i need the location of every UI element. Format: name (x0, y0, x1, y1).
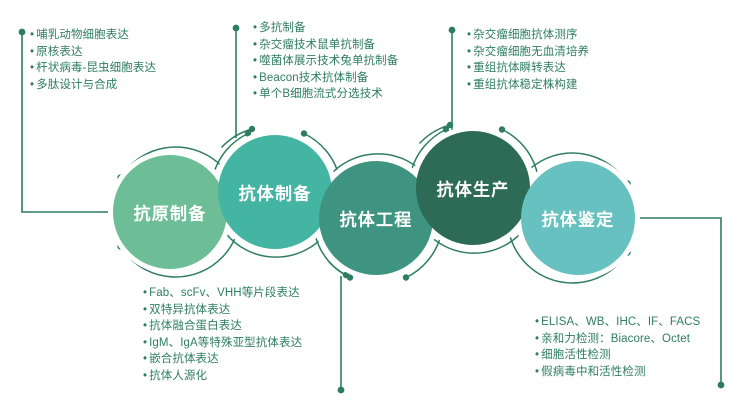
note-item: •抗体人源化 (143, 368, 302, 385)
stage-label-antibody-preparation[interactable]: 抗体制备 (239, 180, 312, 205)
note-item: •IgM、IgA等特殊亚型抗体表达 (143, 335, 302, 352)
bullet-icon: • (467, 79, 471, 91)
note-item: •杂交瘤技术鼠单抗制备 (253, 37, 398, 54)
endpoint-dot-antigen (19, 29, 26, 36)
note-item: •单个B细胞流式分选技术 (253, 86, 398, 103)
note-item: •重组抗体瞬转表达 (467, 60, 589, 77)
bullet-icon: • (143, 353, 147, 365)
bullet-icon: • (143, 337, 147, 349)
note-item-text: 原核表达 (36, 46, 82, 58)
note-item-text: 杂交瘤细胞无血清培养 (473, 46, 589, 58)
bullet-icon: • (30, 62, 34, 74)
stage-label-antibody-engineering[interactable]: 抗体工程 (340, 206, 413, 231)
note-item-text: Fab、scFv、VHH等片段表达 (149, 287, 300, 299)
note-item: •ELISA、WB、IHC、IF、FACS (535, 314, 700, 331)
bullet-icon: • (467, 29, 471, 41)
note-item: •原核表达 (30, 44, 156, 61)
note-item: •亲和力检测：Biacore、Octet (535, 331, 700, 348)
note-item-text: 假病毒中和活性检测 (541, 366, 645, 378)
note-item-text: Beacon技术抗体制备 (259, 72, 368, 84)
bullet-icon: • (535, 366, 539, 378)
note-list-antibody-engineering: •Fab、scFv、VHH等片段表达 •双特异抗体表达 •抗体融合蛋白表达 •I… (143, 285, 302, 384)
note-item: •假病毒中和活性检测 (535, 364, 700, 381)
note-item-text: 哺乳动物细胞表达 (36, 29, 129, 41)
stage-label-antigen-preparation[interactable]: 抗原制备 (134, 200, 207, 225)
note-item-text: 杂交瘤技术鼠单抗制备 (259, 39, 375, 51)
bullet-icon: • (253, 55, 257, 67)
note-item: •多肽设计与合成 (30, 77, 156, 94)
note-item: •多抗制备 (253, 20, 398, 37)
note-item-text: 嵌合抗体表达 (149, 353, 219, 365)
endpoint-dot-antibody-identification (718, 382, 725, 389)
bullet-icon: • (535, 333, 539, 345)
note-item-text: 多肽设计与合成 (36, 79, 117, 91)
note-item: •重组抗体稳定株构建 (467, 77, 589, 94)
stage-label-antibody-production[interactable]: 抗体生产 (437, 176, 510, 201)
note-list-antigen-preparation: •哺乳动物细胞表达 •原核表达 •杆状病毒-昆虫细胞表达 •多肽设计与合成 (30, 27, 156, 93)
note-item: •Beacon技术抗体制备 (253, 70, 398, 87)
endpoint-dot-antibody-production (449, 27, 456, 34)
note-list-antibody-production: •杂交瘤细胞抗体测序 •杂交瘤细胞无血清培养 •重组抗体瞬转表达 •重组抗体稳定… (467, 27, 589, 93)
note-item: •杆状病毒-昆虫细胞表达 (30, 60, 156, 77)
bullet-icon: • (253, 22, 257, 34)
bullet-icon: • (143, 287, 147, 299)
note-item: •细胞活性检测 (535, 347, 700, 364)
note-item-text: IgM、IgA等特殊亚型抗体表达 (149, 337, 302, 349)
note-item-text: 重组抗体瞬转表达 (473, 62, 566, 74)
note-item: •哺乳动物细胞表达 (30, 27, 156, 44)
note-item: •双特异抗体表达 (143, 302, 302, 319)
bullet-icon: • (30, 29, 34, 41)
note-item: •Fab、scFv、VHH等片段表达 (143, 285, 302, 302)
note-item-text: ELISA、WB、IHC、IF、FACS (541, 316, 700, 328)
note-item: •杂交瘤细胞无血清培养 (467, 44, 589, 61)
bullet-icon: • (253, 88, 257, 100)
bullet-icon: • (143, 370, 147, 382)
bullet-icon: • (535, 316, 539, 328)
note-item-text: 抗体融合蛋白表达 (149, 320, 242, 332)
note-item-text: 双特异抗体表达 (149, 304, 230, 316)
note-list-antibody-identification: •ELISA、WB、IHC、IF、FACS •亲和力检测：Biacore、Oct… (535, 314, 700, 380)
bullet-icon: • (30, 79, 34, 91)
bullet-icon: • (253, 72, 257, 84)
antibody-workflow-infographic: 抗原制备 抗体制备 抗体工程 抗体生产 抗体鉴定 •哺乳动物细胞表达 •原核表达… (0, 0, 742, 405)
bullet-icon: • (143, 304, 147, 316)
note-item: •杂交瘤细胞抗体测序 (467, 27, 589, 44)
note-item-text: 亲和力检测：Biacore、Octet (541, 333, 690, 345)
note-item-text: 抗体人源化 (149, 370, 207, 382)
note-item: •嵌合抗体表达 (143, 351, 302, 368)
bullet-icon: • (467, 62, 471, 74)
endpoint-dot-antibody-engineering (338, 387, 345, 394)
note-item-text: 噬菌体展示技术兔单抗制备 (259, 55, 398, 67)
bullet-icon: • (253, 39, 257, 51)
bullet-icon: • (143, 320, 147, 332)
stage-label-antibody-identification[interactable]: 抗体鉴定 (542, 206, 615, 231)
bullet-icon: • (467, 46, 471, 58)
note-item-text: 杆状病毒-昆虫细胞表达 (36, 62, 156, 74)
note-item-text: 细胞活性检测 (541, 349, 611, 361)
bullet-icon: • (30, 46, 34, 58)
note-item-text: 重组抗体稳定株构建 (473, 79, 577, 91)
note-item: •抗体融合蛋白表达 (143, 318, 302, 335)
note-item-text: 单个B细胞流式分选技术 (259, 88, 383, 100)
note-item-text: 多抗制备 (259, 22, 305, 34)
endpoint-dot-antibody-preparation (233, 25, 240, 32)
note-list-antibody-preparation: •多抗制备 •杂交瘤技术鼠单抗制备 •噬菌体展示技术兔单抗制备 •Beacon技… (253, 20, 398, 103)
bullet-icon: • (535, 349, 539, 361)
note-item: •噬菌体展示技术兔单抗制备 (253, 53, 398, 70)
note-item-text: 杂交瘤细胞抗体测序 (473, 29, 577, 41)
